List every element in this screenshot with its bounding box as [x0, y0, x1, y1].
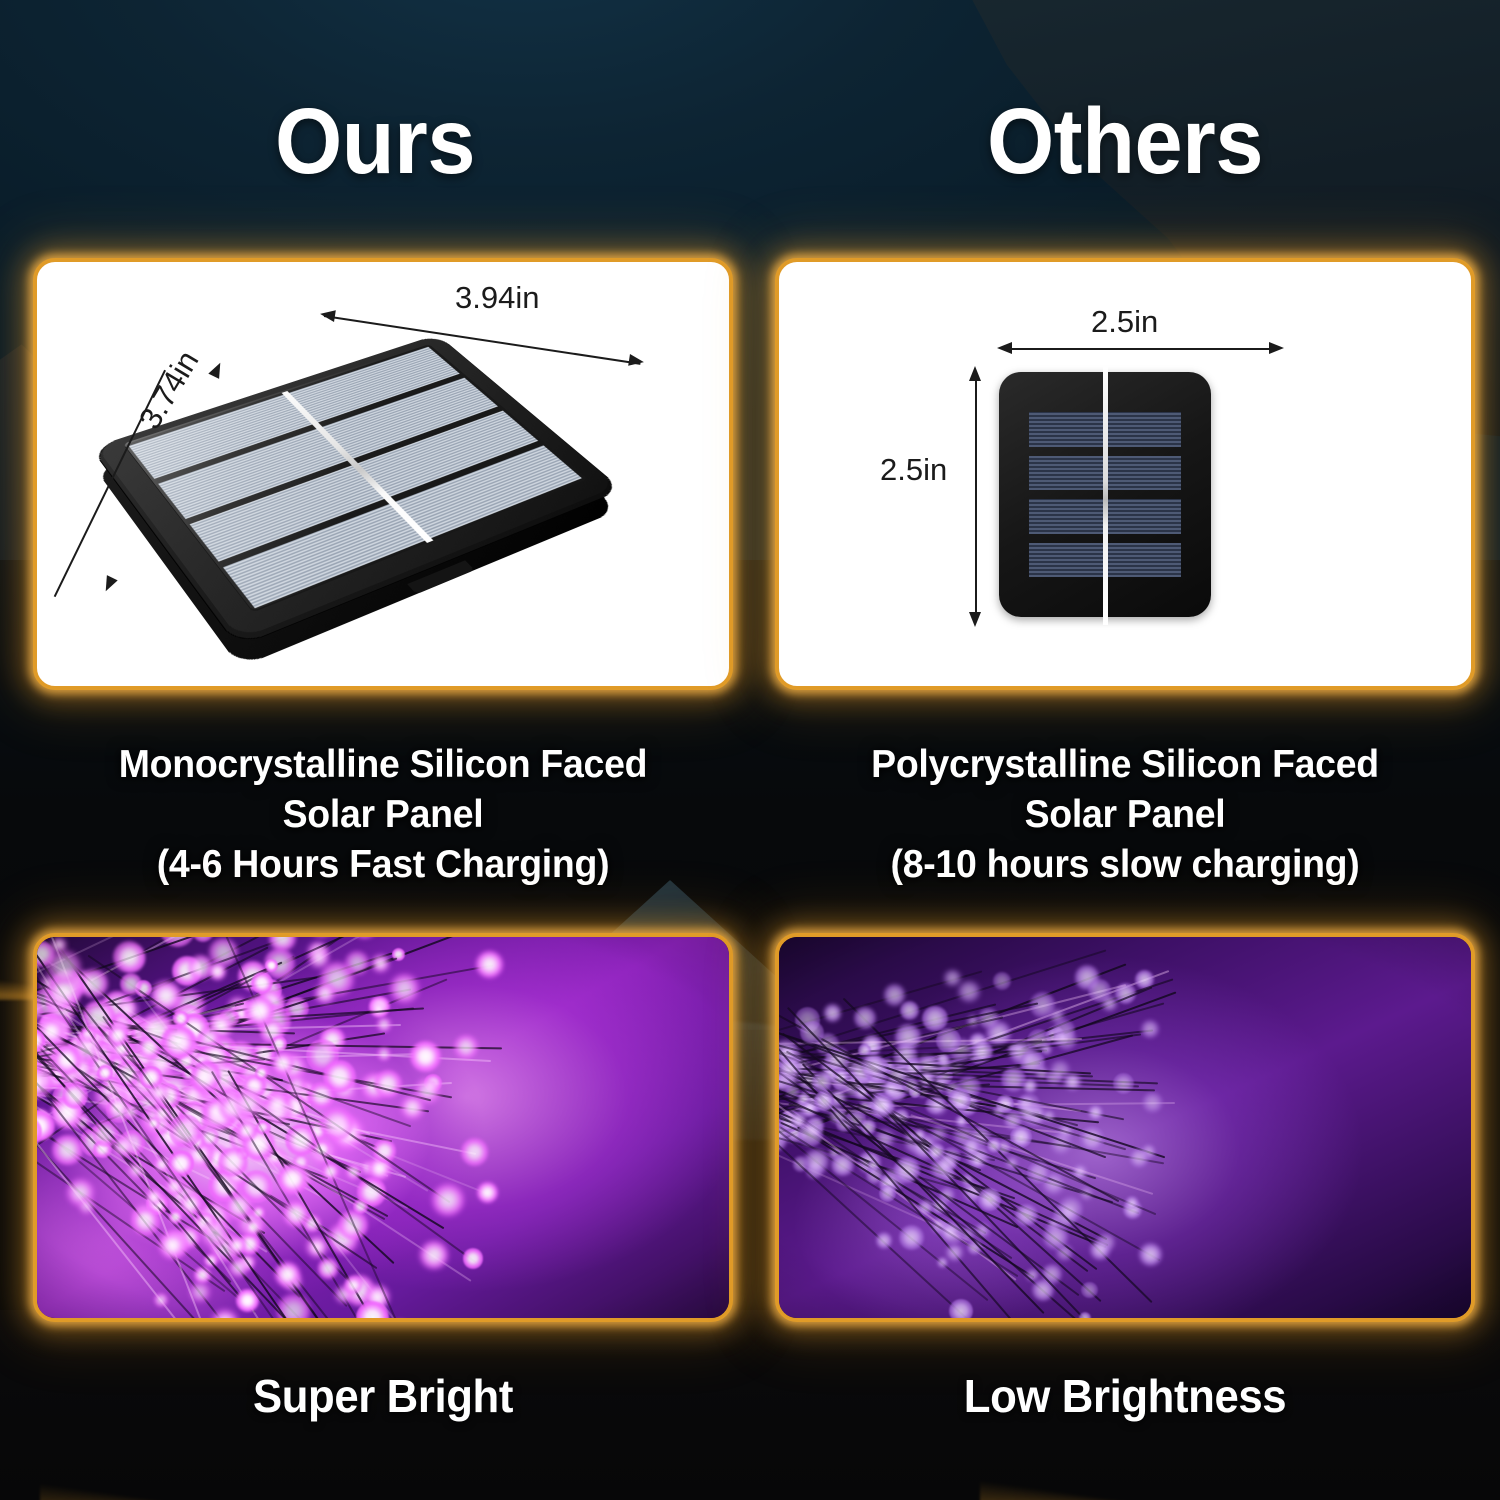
led-bulb	[192, 937, 214, 942]
led-bulb	[372, 955, 389, 972]
led-photo-card-ours	[33, 933, 733, 1322]
led-bulb	[251, 972, 273, 994]
led-bulb	[1125, 1196, 1138, 1209]
solar-panel-card-others: 2.5in 2.5in	[775, 258, 1475, 690]
led-bulb	[147, 1117, 160, 1130]
led-bulb	[345, 1276, 363, 1294]
led-bulb	[871, 1094, 894, 1117]
led-bulb	[1081, 1282, 1097, 1298]
solar-panel-card-ours: 3.94in 3.74in	[33, 258, 733, 690]
caption-ours: Monocrystalline Silicon Faced Solar Pane…	[47, 740, 719, 890]
led-bulb	[949, 1299, 973, 1318]
led-bulb	[159, 1232, 186, 1259]
caption-line-3: (4-6 Hours Fast Charging)	[47, 840, 719, 890]
led-bulb	[931, 1157, 954, 1180]
led-bulb	[97, 1065, 113, 1081]
led-bulb	[946, 1244, 963, 1261]
led-bulb	[936, 1028, 961, 1053]
led-bulb	[884, 984, 906, 1006]
led-bulb	[108, 1025, 128, 1045]
led-bulb	[454, 1035, 477, 1058]
caption-line-3: (8-10 hours slow charging)	[789, 840, 1461, 890]
led-bulb	[320, 1107, 354, 1141]
led-bulb	[958, 981, 979, 1002]
brightness-label-ours: Super Bright	[51, 1368, 716, 1424]
led-bulb	[209, 963, 226, 980]
caption-line-2: Solar Panel	[47, 790, 719, 840]
led-bulb	[477, 1182, 498, 1203]
arrow-head-down-icon	[100, 575, 117, 594]
led-bulb	[169, 1114, 203, 1148]
led-bulb	[346, 1164, 361, 1179]
led-bulb	[1015, 1204, 1037, 1226]
led-bulb	[1006, 1157, 1018, 1169]
led-bulb	[831, 1154, 854, 1177]
led-bulb	[814, 1091, 834, 1111]
caption-line-1: Polycrystalline Silicon Faced	[789, 740, 1461, 790]
led-bulb	[146, 1189, 162, 1205]
led-bulb	[377, 1047, 391, 1061]
led-bulb	[879, 1185, 896, 1202]
led-bulb	[804, 1149, 829, 1174]
led-bulb	[420, 1241, 448, 1269]
led-bulb	[978, 1188, 1000, 1210]
comparison-headings: Ours Others	[0, 86, 1500, 196]
led-bulb	[113, 941, 145, 973]
led-bulb	[322, 1163, 339, 1180]
led-bulb	[922, 1006, 948, 1032]
led-photo-card-others	[775, 933, 1475, 1322]
led-bulb	[169, 1210, 183, 1224]
heading-others: Others	[776, 86, 1474, 196]
led-bulb	[52, 1135, 83, 1166]
led-bulb	[353, 1199, 368, 1214]
led-bulb	[79, 1198, 94, 1213]
led-bulb	[374, 1070, 402, 1098]
led-bulb	[199, 1027, 220, 1048]
led-bulb	[899, 1225, 924, 1250]
solar-panel-3d-ours	[142, 304, 602, 654]
led-string-dim-image	[779, 937, 1471, 1318]
dimension-label-height: 2.5in	[880, 452, 947, 488]
arrow-head-left-icon	[997, 342, 1012, 354]
led-bulb	[1102, 996, 1117, 1011]
led-bulb	[1139, 1243, 1162, 1266]
led-bulb	[161, 1025, 196, 1060]
led-bulb	[461, 1138, 489, 1166]
led-bulb	[228, 1237, 245, 1254]
led-bulb	[1041, 1044, 1052, 1055]
arrow-head-down-icon	[969, 612, 981, 627]
led-bulb	[1113, 1073, 1134, 1094]
led-bulb	[124, 1105, 138, 1119]
led-wire-layer	[37, 937, 729, 1318]
led-bulb	[1043, 1224, 1068, 1249]
led-bulb	[244, 996, 275, 1027]
led-bulb	[255, 1066, 268, 1079]
dimension-label-width: 3.94in	[455, 280, 539, 316]
led-bulb	[432, 1184, 464, 1216]
led-bulb	[318, 1258, 339, 1279]
solar-panel-flat-others	[999, 372, 1211, 617]
led-string-bright-image	[37, 937, 729, 1318]
led-bulb	[939, 1058, 951, 1070]
led-bulb	[1129, 1148, 1149, 1168]
led-bulb	[245, 1219, 261, 1235]
led-bulb	[62, 1082, 89, 1109]
led-bulb	[277, 1164, 307, 1194]
led-bulb	[401, 1096, 424, 1119]
led-bulb	[150, 1084, 168, 1102]
brightness-label-others: Low Brightness	[793, 1368, 1458, 1424]
led-bulb	[410, 1041, 441, 1072]
caption-line-2: Solar Panel	[789, 790, 1461, 840]
arrow-head-right-icon	[628, 354, 645, 368]
led-bulb	[1058, 1196, 1084, 1222]
led-bulb	[315, 984, 335, 1004]
led-bulb	[1023, 1079, 1037, 1093]
led-bulb	[131, 1207, 160, 1236]
led-bulb	[234, 1089, 262, 1117]
led-bulb	[993, 972, 1011, 990]
led-bulb	[173, 1011, 188, 1026]
led-bulb	[1141, 1020, 1159, 1038]
led-bulb	[463, 1248, 483, 1268]
led-bulb	[390, 974, 419, 1003]
led-bulb	[854, 1007, 876, 1029]
led-bulb	[237, 1121, 257, 1141]
led-bulb	[824, 1004, 842, 1022]
dimension-line-height	[975, 372, 977, 622]
arrow-head-right-icon	[1269, 342, 1284, 354]
led-bulb	[1079, 1312, 1091, 1318]
arrow-head-left-icon	[319, 308, 336, 322]
arrow-head-up-icon	[969, 366, 981, 381]
led-bulb	[377, 1017, 391, 1031]
led-bulb	[476, 951, 503, 978]
led-wire-layer	[779, 937, 1471, 1318]
led-bulb	[1088, 1105, 1103, 1120]
led-bulb	[47, 950, 81, 984]
caption-line-1: Monocrystalline Silicon Faced	[47, 740, 719, 790]
led-bulb	[1142, 1092, 1163, 1113]
led-bulb	[138, 1036, 161, 1059]
led-bulb	[944, 970, 960, 986]
led-bulb	[798, 1121, 823, 1146]
led-bulb	[272, 1052, 295, 1075]
dimension-label-width: 2.5in	[1091, 304, 1158, 340]
dimension-line-width	[1004, 348, 1279, 350]
caption-others: Polycrystalline Silicon Faced Solar Pane…	[789, 740, 1461, 890]
led-bulb	[151, 981, 181, 1011]
busbar	[1103, 364, 1108, 625]
heading-ours: Ours	[26, 86, 724, 196]
led-bulb	[900, 1001, 919, 1020]
